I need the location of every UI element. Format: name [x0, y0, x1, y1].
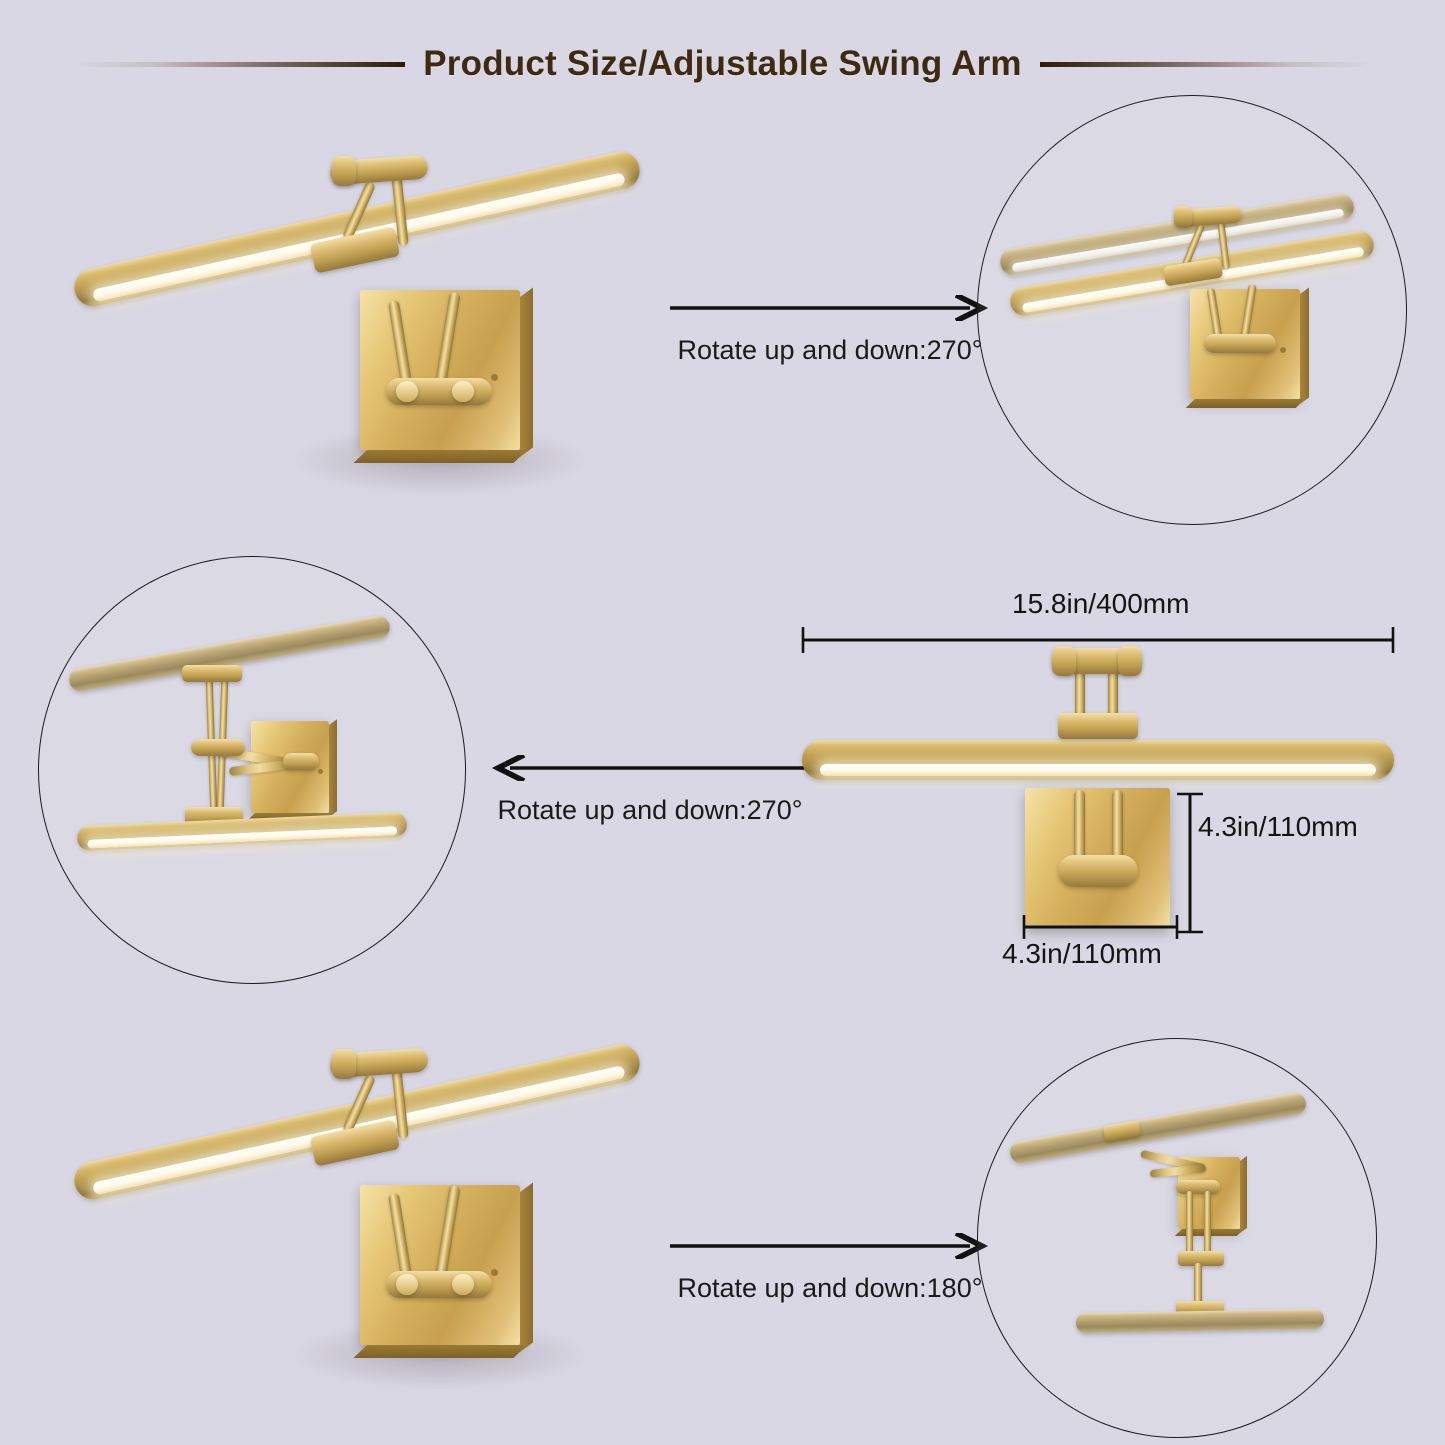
width-dimension-label: 15.8in/400mm	[1012, 588, 1189, 620]
rotation-inset-bottom-right	[977, 1038, 1377, 1438]
product-infographic: Product Size/Adjustable Swing Arm	[0, 0, 1445, 1445]
arrow-bottom-caption: Rotate up and down:180°	[650, 1273, 1010, 1304]
led-bar-lower	[1076, 1309, 1324, 1333]
arrow-top-block: Rotate up and down:270°	[650, 295, 1010, 366]
main-product-view	[60, 150, 680, 500]
page-title: Product Size/Adjustable Swing Arm	[423, 44, 1021, 84]
arrow-middle-caption: Rotate up and down:270°	[470, 795, 830, 826]
title-rule-left	[75, 62, 405, 67]
rotation-inset-mid-left	[38, 556, 466, 984]
arrow-bottom-block: Rotate up and down:180°	[650, 1233, 1010, 1304]
arrow-left-icon	[490, 755, 810, 781]
depth-dimension-label: 4.3in/110mm	[1002, 938, 1162, 970]
rotation-inset-top-right	[977, 95, 1407, 525]
title-rule-right	[1040, 62, 1370, 67]
arrow-middle-block: Rotate up and down:270°	[470, 755, 830, 826]
height-dimension-label: 4.3in/110mm	[1198, 811, 1358, 843]
page-title-row: Product Size/Adjustable Swing Arm	[0, 38, 1445, 90]
arrow-top-caption: Rotate up and down:270°	[650, 335, 1010, 366]
arrow-right-icon	[670, 295, 990, 321]
led-bar	[802, 740, 1394, 780]
arrow-right-icon	[670, 1233, 990, 1259]
secondary-product-view	[60, 1035, 680, 1395]
